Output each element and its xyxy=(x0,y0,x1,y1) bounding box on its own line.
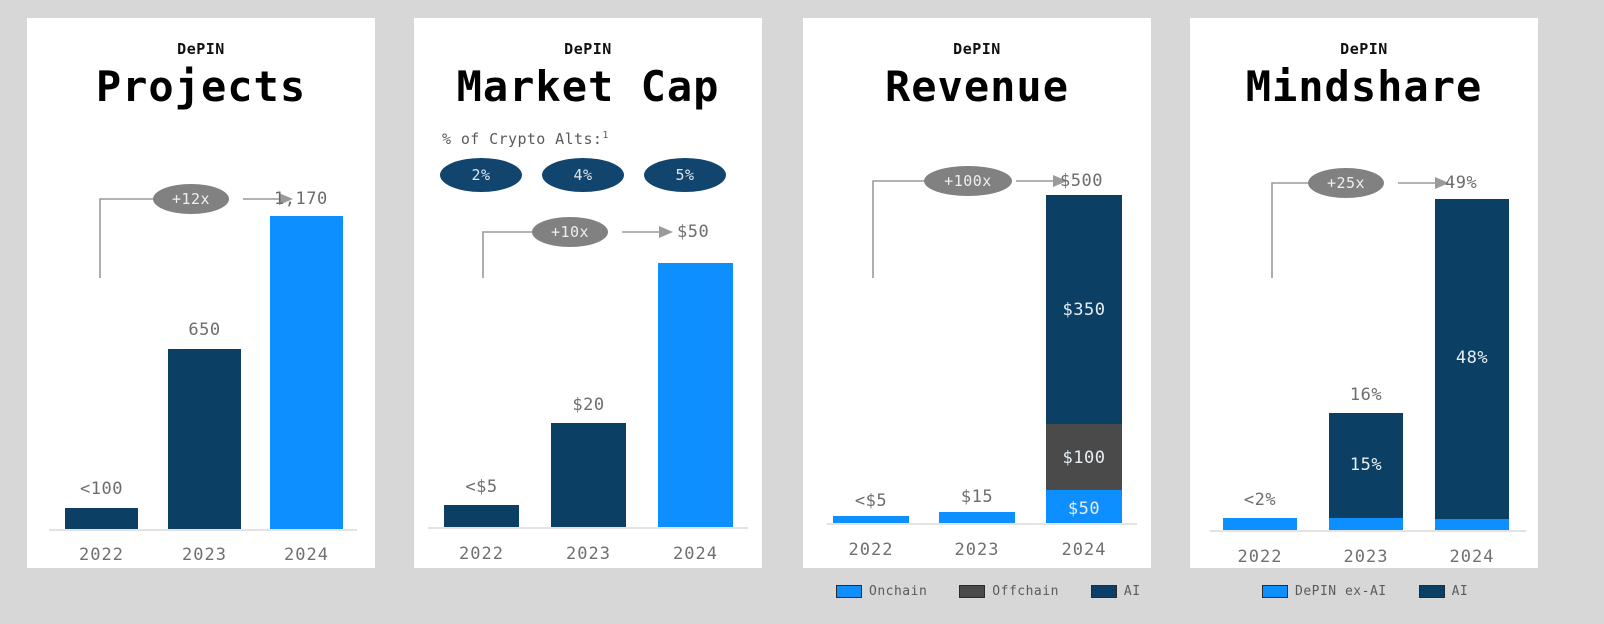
growth-end-label: $50 xyxy=(677,222,709,242)
legend-item-onchain[interactable]: Onchain xyxy=(836,584,927,599)
bar-2022 xyxy=(444,505,519,527)
growth-pill: +100x xyxy=(924,166,1012,196)
legend-label-onchain: Onchain xyxy=(869,584,927,599)
chart-projects: +12x 1,170 <100 650 2022 2023 2024 xyxy=(27,18,375,568)
legend-swatch-ai-icon xyxy=(1419,585,1445,598)
x-tick-2022: 2022 xyxy=(65,545,138,565)
bar-2022 xyxy=(1223,518,1297,530)
segment-depin-ex-ai xyxy=(1329,518,1403,530)
value-label-2023: $20 xyxy=(551,395,626,415)
x-tick-2023: 2023 xyxy=(1329,547,1403,567)
bar-2024 xyxy=(270,216,343,529)
panel-revenue: DePIN Revenue +100x $500 xyxy=(803,18,1151,568)
value-label-2022: <2% xyxy=(1223,490,1297,510)
segment-onchain xyxy=(939,512,1015,523)
growth-end-label: 1,170 xyxy=(274,189,328,209)
x-tick-2024: 2024 xyxy=(1435,547,1509,567)
segment-onchain xyxy=(833,516,909,523)
inner-label-onchain: $50 xyxy=(1046,499,1122,519)
legend-revenue: Onchain Offchain AI xyxy=(836,584,1163,599)
legend-swatch-ai-icon xyxy=(1091,585,1117,598)
growth-pill: +10x xyxy=(532,217,608,247)
bar-2022 xyxy=(833,516,909,523)
legend-item-ai[interactable]: AI xyxy=(1091,584,1141,599)
x-axis-line xyxy=(827,523,1137,525)
x-axis-line xyxy=(1210,530,1526,532)
bar-2024 xyxy=(1046,195,1122,523)
segment-depin-ex-ai xyxy=(1223,518,1297,530)
x-tick-2022: 2022 xyxy=(833,540,909,560)
x-tick-2024: 2024 xyxy=(270,545,343,565)
value-label-2023: 16% xyxy=(1329,385,1403,405)
x-axis-line xyxy=(49,529,357,531)
bar-2023 xyxy=(168,349,241,529)
legend-label-ai: AI xyxy=(1124,584,1141,599)
x-tick-2024: 2024 xyxy=(1046,540,1122,560)
x-tick-2022: 2022 xyxy=(1223,547,1297,567)
panel-projects: DePIN Projects +12x 1,170 <100 650 2022 … xyxy=(27,18,375,568)
value-label-2022: <100 xyxy=(65,479,138,499)
legend-swatch-onchain-icon xyxy=(836,585,862,598)
chart-market-cap: +10x $50 <$5 $20 2022 2023 2024 xyxy=(414,18,762,568)
inner-label-offchain: $100 xyxy=(1046,448,1122,468)
inner-label-2023-ai: 15% xyxy=(1329,455,1403,475)
x-tick-2023: 2023 xyxy=(551,544,626,564)
x-tick-2024: 2024 xyxy=(658,544,733,564)
dashboard-panels: DePIN Projects +12x 1,170 <100 650 2022 … xyxy=(0,0,1604,624)
value-label-2022: <$5 xyxy=(833,491,909,511)
legend-item-offchain[interactable]: Offchain xyxy=(959,584,1059,599)
bar-2024 xyxy=(658,263,733,527)
bar-2023 xyxy=(551,423,626,527)
x-axis-line xyxy=(428,527,748,529)
inner-label-2024-ai: 48% xyxy=(1435,348,1509,368)
legend-label-offchain: Offchain xyxy=(992,584,1059,599)
value-label-2022: <$5 xyxy=(444,477,519,497)
legend-label-depin-ex-ai: DePIN ex-AI xyxy=(1295,584,1387,599)
legend-mindshare: DePIN ex-AI AI xyxy=(1262,584,1490,599)
inner-label-ai: $350 xyxy=(1046,300,1122,320)
legend-swatch-depin-ex-ai-icon xyxy=(1262,585,1288,598)
value-label-2023: $15 xyxy=(939,487,1015,507)
legend-item-depin-ex-ai[interactable]: DePIN ex-AI xyxy=(1262,584,1387,599)
growth-pill: +25x xyxy=(1308,168,1384,198)
segment-depin-ex-ai xyxy=(1435,519,1509,530)
panel-market-cap: DePIN Market Cap % of Crypto Alts:1 2% 4… xyxy=(414,18,762,568)
chart-revenue: +100x $500 $350 $100 $50 <$5 $1 xyxy=(803,18,1151,568)
bar-2023 xyxy=(939,512,1015,523)
x-tick-2023: 2023 xyxy=(168,545,241,565)
panel-mindshare: DePIN Mindshare +25x 49% xyxy=(1190,18,1538,568)
chart-mindshare: +25x 49% 15% 48% <2% 16% 2022 2023 xyxy=(1190,18,1538,568)
x-tick-2023: 2023 xyxy=(939,540,1015,560)
bar-2022 xyxy=(65,508,138,529)
legend-swatch-offchain-icon xyxy=(959,585,985,598)
x-tick-2022: 2022 xyxy=(444,544,519,564)
growth-end-label: 49% xyxy=(1445,173,1477,193)
growth-pill: +12x xyxy=(153,184,229,214)
growth-end-label: $500 xyxy=(1060,171,1103,191)
legend-label-ai: AI xyxy=(1452,584,1469,599)
legend-item-ai[interactable]: AI xyxy=(1419,584,1469,599)
value-label-2023: 650 xyxy=(168,320,241,340)
